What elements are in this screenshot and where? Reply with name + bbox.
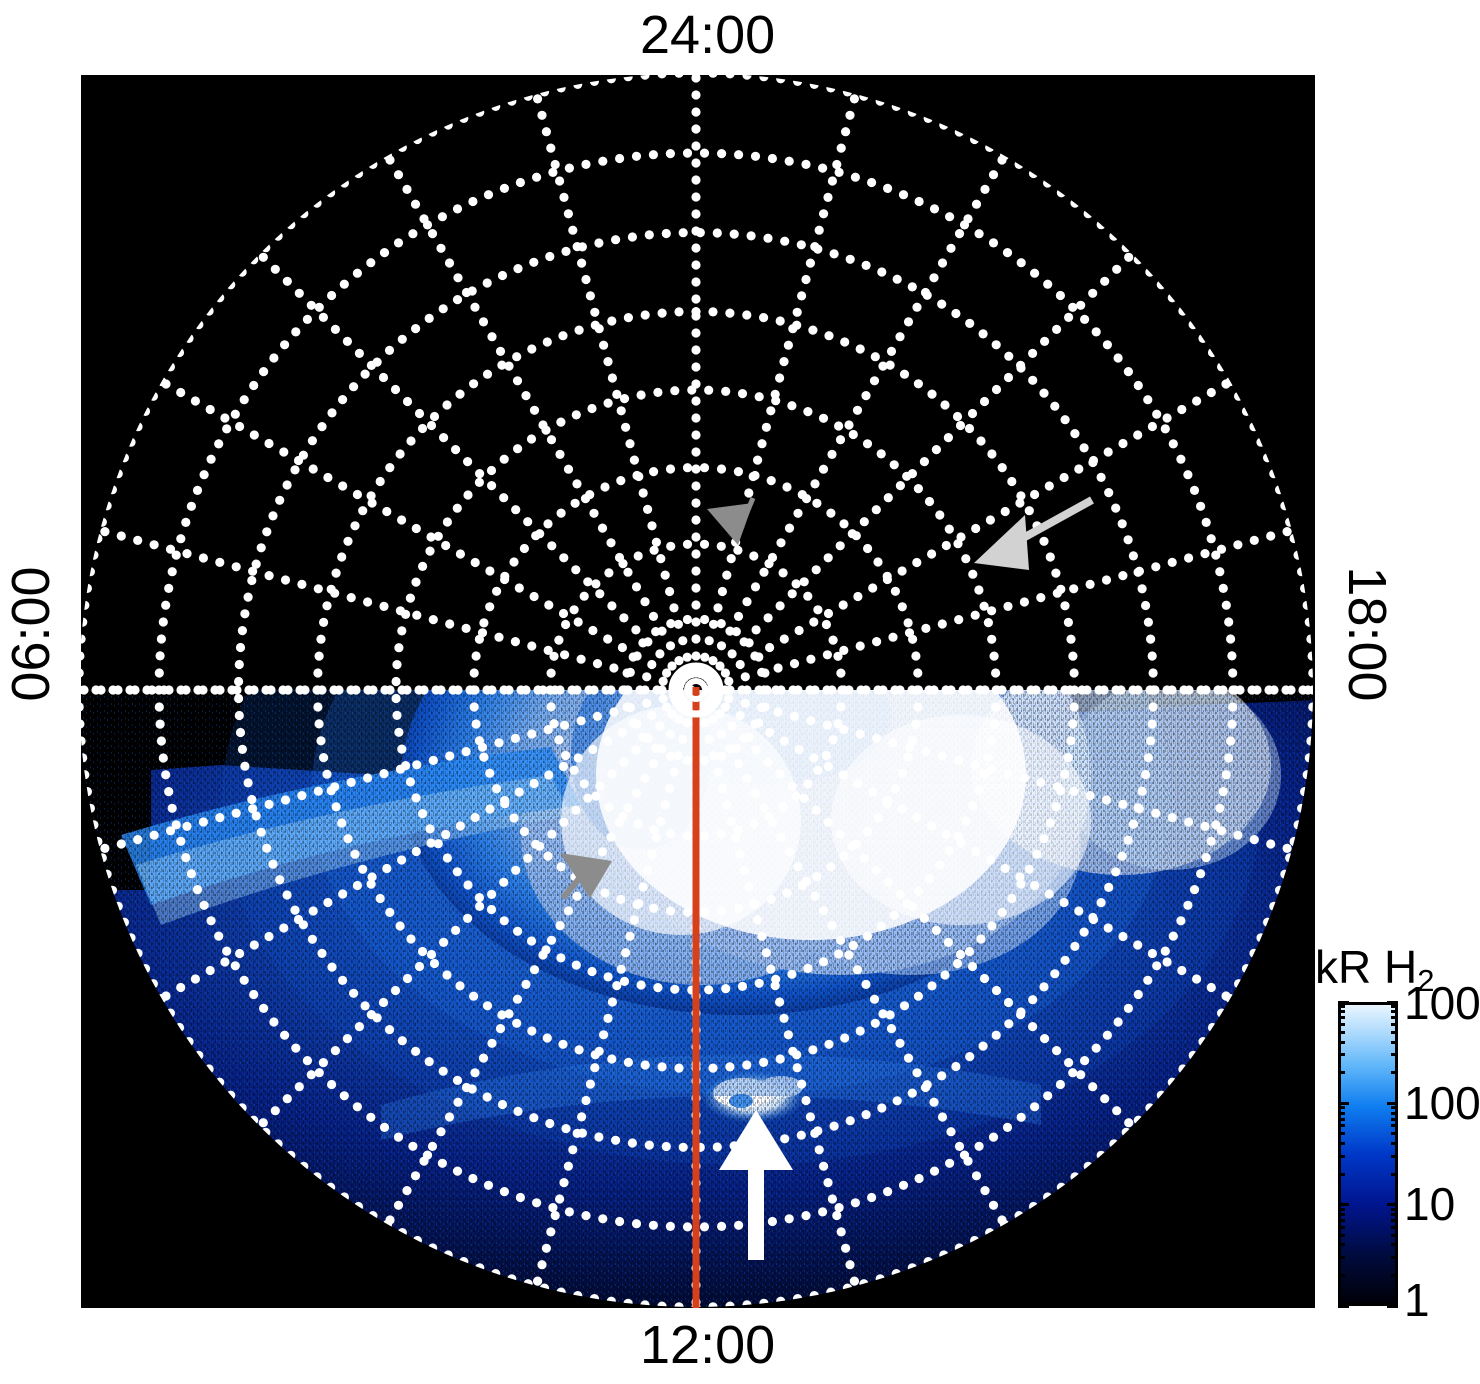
colorbar-tick <box>1338 1219 1345 1222</box>
colorbar-tick <box>1391 1010 1398 1013</box>
colorbar-tick <box>1387 1203 1398 1206</box>
colorbar-tick-label-1: 1 <box>1404 1277 1430 1323</box>
colorbar-tick <box>1338 1234 1345 1237</box>
polar-grid-and-data <box>81 75 1315 1308</box>
colorbar-tick <box>1391 1053 1398 1056</box>
colorbar-tick <box>1338 1118 1345 1121</box>
colorbar-tick <box>1338 1142 1345 1145</box>
colorbar-tick <box>1391 1213 1398 1216</box>
colorbar-tick <box>1387 1001 1398 1004</box>
polar-plot-area <box>81 75 1315 1308</box>
colorbar-tick <box>1338 1001 1349 1004</box>
colorbar-tick <box>1338 1112 1345 1115</box>
colorbar-tick-label-10: 10 <box>1404 1181 1455 1227</box>
colorbar-tick <box>1338 1005 1345 1008</box>
colorbar-tick <box>1391 1132 1398 1135</box>
colorbar-tick <box>1338 1213 1345 1216</box>
colorbar-tick <box>1391 1041 1398 1044</box>
colorbar-tick <box>1338 1053 1345 1056</box>
colorbar-tick <box>1391 1155 1398 1158</box>
colorbar-tick <box>1391 1016 1398 1019</box>
colorbar-tick <box>1387 1305 1398 1308</box>
colorbar-tick <box>1391 1112 1398 1115</box>
colorbar-tick <box>1338 1173 1345 1176</box>
colorbar-tick <box>1391 1071 1398 1074</box>
colorbar-tick <box>1391 1023 1398 1026</box>
colorbar-tick <box>1391 1208 1398 1211</box>
colorbar-gradient <box>1338 1002 1398 1306</box>
colorbar-tick <box>1391 1124 1398 1127</box>
local-time-label-24: 24:00 <box>640 8 775 62</box>
colorbar-tick <box>1338 1031 1345 1034</box>
colorbar-tick <box>1338 1023 1345 1026</box>
colorbar-tick-label-100: 100 <box>1404 1080 1480 1126</box>
colorbar-tick <box>1338 1124 1345 1127</box>
colorbar-tick <box>1338 1243 1345 1246</box>
local-time-label-06: 06:00 <box>4 549 58 719</box>
colorbar-tick <box>1387 1102 1398 1105</box>
colorbar-tick <box>1338 1010 1345 1013</box>
local-time-label-18: 18:00 <box>1340 549 1394 719</box>
colorbar-tick <box>1391 1243 1398 1246</box>
polar-aurora-figure: 24:00 12:00 06:00 18:00 <box>0 0 1480 1384</box>
colorbar-tick <box>1338 1132 1345 1135</box>
colorbar: 1000 100 10 1 <box>1338 1002 1398 1306</box>
colorbar-tick <box>1338 1305 1349 1308</box>
colorbar-tick <box>1338 1274 1345 1277</box>
colorbar-tick <box>1391 1219 1398 1222</box>
colorbar-tick <box>1338 1208 1345 1211</box>
colorbar-tick <box>1338 1071 1345 1074</box>
colorbar-tick <box>1338 1155 1345 1158</box>
colorbar-tick <box>1338 1016 1345 1019</box>
colorbar-tick <box>1338 1106 1345 1109</box>
colorbar-tick <box>1391 1173 1398 1176</box>
local-time-label-12: 12:00 <box>640 1318 775 1372</box>
colorbar-tick <box>1338 1203 1349 1206</box>
colorbar-tick <box>1338 1102 1349 1105</box>
colorbar-tick <box>1338 1041 1345 1044</box>
colorbar-tick <box>1338 1256 1345 1259</box>
colorbar-tick <box>1391 1142 1398 1145</box>
colorbar-tick <box>1391 1234 1398 1237</box>
colorbar-tick <box>1391 1226 1398 1229</box>
colorbar-tick-label-1000: 1000 <box>1404 980 1480 1026</box>
colorbar-tick <box>1391 1274 1398 1277</box>
colorbar-tick <box>1338 1226 1345 1229</box>
colorbar-tick <box>1391 1118 1398 1121</box>
colorbar-tick <box>1391 1005 1398 1008</box>
colorbar-tick <box>1391 1256 1398 1259</box>
colorbar-tick <box>1391 1106 1398 1109</box>
colorbar-tick <box>1391 1031 1398 1034</box>
